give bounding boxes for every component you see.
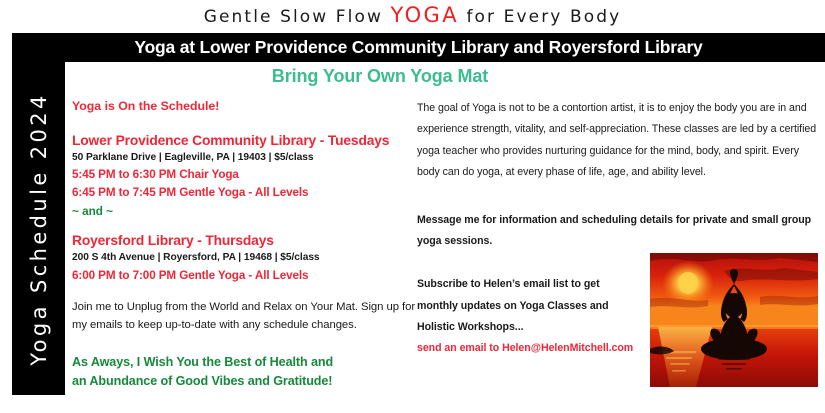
tagline-after: for Every Body (459, 7, 621, 27)
sidebar-label: Yoga Schedule 2024 (27, 92, 51, 366)
venue-address-lower-providence: 50 Parklane Drive | Eagleville, PA | 194… (72, 151, 417, 165)
session-gentle-yoga-thursday: 6:00 PM to 7:00 PM Gentle Yoga - All Lev… (72, 268, 417, 283)
tagline-yoga-highlight: YOGA (391, 3, 459, 27)
spacer (72, 283, 417, 298)
page-tagline: Gentle Slow Flow YOGA for Every Body (0, 3, 825, 27)
session-gentle-yoga-tuesday: 6:45 PM to 7:45 PM Gentle Yoga - All Lev… (72, 185, 417, 200)
left-column: Yoga is On the Schedule! Lower Providenc… (72, 98, 417, 391)
intro-heading: Yoga is On the Schedule! (72, 98, 417, 115)
venue-name-lower-providence: Lower Providence Community Library - Tue… (72, 132, 417, 150)
session-chair-yoga: 5:45 PM to 6:30 PM Chair Yoga (72, 167, 417, 182)
spacer (72, 334, 417, 353)
message-paragraph: Message me for information and schedulin… (417, 210, 817, 253)
tagline-before: Gentle Slow Flow (204, 7, 391, 27)
closing-line-2: an Abundance of Good Vibes and Gratitude… (72, 372, 417, 391)
closing-line-1: As Aways, I Wish You the Best of Health … (72, 353, 417, 372)
header-title: Yoga at Lower Providence Community Libra… (12, 33, 825, 62)
page-subtitle: Bring Your Own Yoga Mat (65, 66, 695, 87)
venue-separator: ~ and ~ (72, 204, 417, 219)
spacer (72, 115, 417, 132)
spacer (417, 184, 817, 210)
venue-address-royersford: 200 S 4th Avenue | Royersford, PA | 1946… (72, 251, 417, 265)
sunset-meditation-photo (650, 253, 818, 387)
invite-paragraph: Join me to Unplug from the World and Rel… (72, 298, 417, 335)
spacer (72, 219, 417, 232)
vertical-sidebar: Yoga Schedule 2024 (12, 62, 65, 395)
venue-name-royersford: Royersford Library - Thursdays (72, 232, 417, 250)
sunset-photo-graphic (650, 253, 818, 387)
philosophy-paragraph: The goal of Yoga is not to be a contorti… (417, 98, 817, 184)
